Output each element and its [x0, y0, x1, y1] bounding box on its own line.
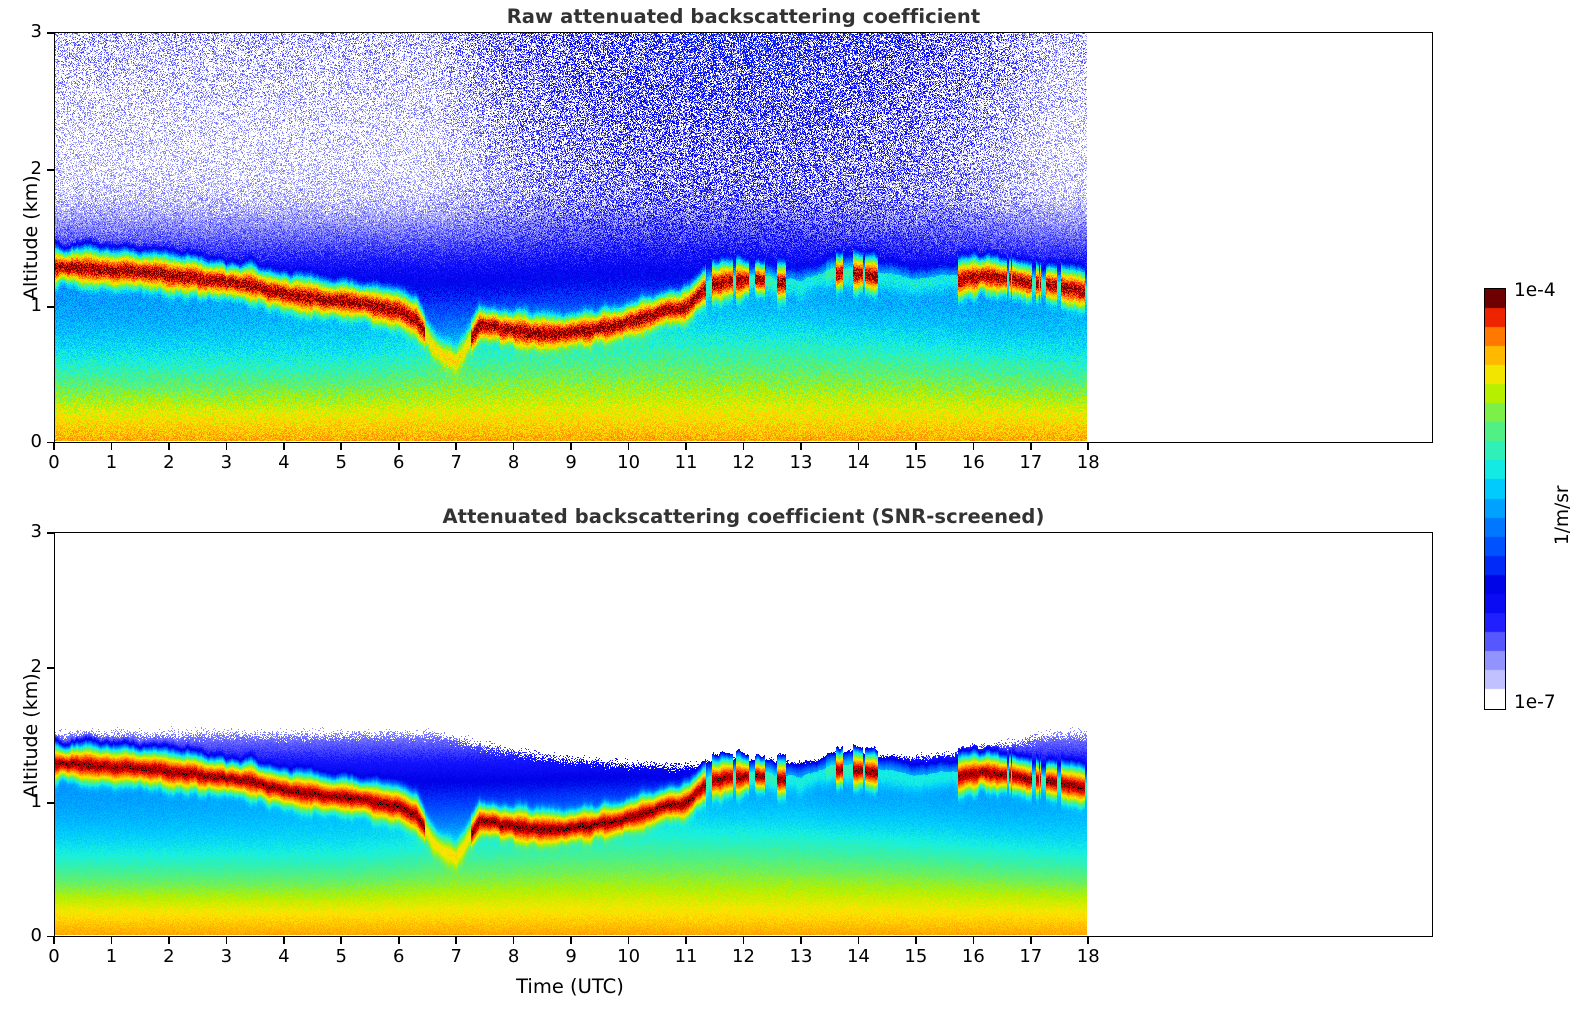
screened-xtick-label-18: 18: [1063, 946, 1113, 967]
raw-xtick-5: [340, 443, 342, 450]
raw-xtick-label-16: 16: [948, 452, 998, 473]
raw-xtick-15: [915, 443, 917, 450]
screened-xtick-15: [915, 937, 917, 944]
ytick-label-raw-0: 0: [10, 431, 42, 452]
colorbar: [1484, 288, 1506, 710]
screened-xtick-label-17: 17: [1006, 946, 1056, 967]
colorbar-min-label: 1e-7: [1514, 692, 1556, 713]
ytick-scr-3: [47, 532, 54, 534]
screened-xtick-label-14: 14: [833, 946, 883, 967]
raw-xtick-label-1: 1: [86, 452, 136, 473]
colorbar-unit-label: 1/m/sr: [1552, 485, 1573, 545]
ytick-scr-1: [47, 802, 54, 804]
screened-xtick-10: [628, 937, 630, 944]
screened-xtick-5: [340, 937, 342, 944]
colorbar-max-label: 1e-4: [1514, 280, 1556, 301]
screened-xtick-label-12: 12: [719, 946, 769, 967]
ytick-label-scr-3: 3: [10, 521, 42, 542]
raw-xtick-8: [513, 443, 515, 450]
raw-xtick-label-10: 10: [604, 452, 654, 473]
panel-screened-axes: [54, 532, 1433, 937]
screened-xtick-16: [973, 937, 975, 944]
screened-xtick-label-5: 5: [316, 946, 366, 967]
raw-xtick-label-3: 3: [201, 452, 251, 473]
raw-xtick-label-5: 5: [316, 452, 366, 473]
panel-screened-xlabel: Time (UTC): [54, 975, 1086, 998]
raw-xtick-16: [973, 443, 975, 450]
screened-xtick-label-8: 8: [489, 946, 539, 967]
screened-xtick-3: [226, 937, 228, 944]
panel-screened-title: Attenuated backscattering coefficient (S…: [54, 505, 1433, 528]
screened-xtick-9: [570, 937, 572, 944]
raw-xtick-6: [398, 443, 400, 450]
screened-xtick-7: [455, 937, 457, 944]
raw-xtick-14: [858, 443, 860, 450]
screened-xtick-label-10: 10: [604, 946, 654, 967]
raw-xtick-0: [53, 443, 55, 450]
screened-xtick-6: [398, 937, 400, 944]
panel-screened-heatmap: [55, 533, 1431, 935]
screened-xtick-label-11: 11: [661, 946, 711, 967]
ytick-label-scr-0: 0: [10, 925, 42, 946]
ytick-label-raw-1: 1: [10, 295, 42, 316]
screened-xtick-label-13: 13: [776, 946, 826, 967]
screened-xtick-label-15: 15: [891, 946, 941, 967]
raw-xtick-label-2: 2: [144, 452, 194, 473]
ytick-label-scr-2: 2: [10, 656, 42, 677]
raw-xtick-label-12: 12: [719, 452, 769, 473]
screened-xtick-4: [283, 937, 285, 944]
ytick-raw-1: [47, 306, 54, 308]
screened-xtick-label-7: 7: [431, 946, 481, 967]
panel-raw-title: Raw attenuated backscattering coefficien…: [54, 5, 1433, 28]
screened-xtick-0: [53, 937, 55, 944]
screened-xtick-12: [743, 937, 745, 944]
panel-raw-axes: [54, 32, 1433, 443]
screened-xtick-label-2: 2: [144, 946, 194, 967]
raw-xtick-label-17: 17: [1006, 452, 1056, 473]
raw-xtick-label-0: 0: [29, 452, 79, 473]
screened-xtick-8: [513, 937, 515, 944]
screened-xtick-14: [858, 937, 860, 944]
screened-xtick-label-3: 3: [201, 946, 251, 967]
ytick-label-raw-2: 2: [10, 158, 42, 179]
screened-xtick-label-1: 1: [86, 946, 136, 967]
raw-xtick-label-4: 4: [259, 452, 309, 473]
screened-xtick-17: [1030, 937, 1032, 944]
raw-xtick-label-6: 6: [374, 452, 424, 473]
raw-xtick-label-15: 15: [891, 452, 941, 473]
raw-xtick-3: [226, 443, 228, 450]
raw-xtick-7: [455, 443, 457, 450]
lidar-figure: Raw attenuated backscattering coefficien…: [0, 0, 1595, 1020]
ytick-scr-2: [47, 667, 54, 669]
panel-raw-heatmap: [55, 33, 1431, 441]
panel-screened-ylabel: Altitude (km): [20, 673, 42, 798]
raw-xtick-17: [1030, 443, 1032, 450]
raw-xtick-12: [743, 443, 745, 450]
screened-xtick-label-4: 4: [259, 946, 309, 967]
screened-xtick-13: [800, 937, 802, 944]
ytick-label-raw-3: 3: [10, 21, 42, 42]
screened-xtick-2: [168, 937, 170, 944]
ytick-raw-3: [47, 32, 54, 34]
raw-xtick-9: [570, 443, 572, 450]
raw-xtick-label-9: 9: [546, 452, 596, 473]
raw-xtick-2: [168, 443, 170, 450]
raw-xtick-4: [283, 443, 285, 450]
raw-xtick-label-18: 18: [1063, 452, 1113, 473]
colorbar-gradient: [1485, 289, 1505, 709]
screened-xtick-18: [1087, 937, 1089, 944]
raw-xtick-label-11: 11: [661, 452, 711, 473]
raw-xtick-11: [685, 443, 687, 450]
screened-xtick-11: [685, 937, 687, 944]
screened-xtick-label-9: 9: [546, 946, 596, 967]
panel-raw-ylabel: Altitude (km): [20, 175, 42, 300]
ytick-label-scr-1: 1: [10, 791, 42, 812]
screened-xtick-label-0: 0: [29, 946, 79, 967]
ytick-raw-2: [47, 169, 54, 171]
raw-xtick-label-13: 13: [776, 452, 826, 473]
raw-xtick-label-7: 7: [431, 452, 481, 473]
raw-xtick-1: [111, 443, 113, 450]
raw-xtick-label-14: 14: [833, 452, 883, 473]
raw-xtick-18: [1087, 443, 1089, 450]
screened-xtick-label-16: 16: [948, 946, 998, 967]
raw-xtick-10: [628, 443, 630, 450]
screened-xtick-1: [111, 937, 113, 944]
screened-xtick-label-6: 6: [374, 946, 424, 967]
raw-xtick-13: [800, 443, 802, 450]
raw-xtick-label-8: 8: [489, 452, 539, 473]
